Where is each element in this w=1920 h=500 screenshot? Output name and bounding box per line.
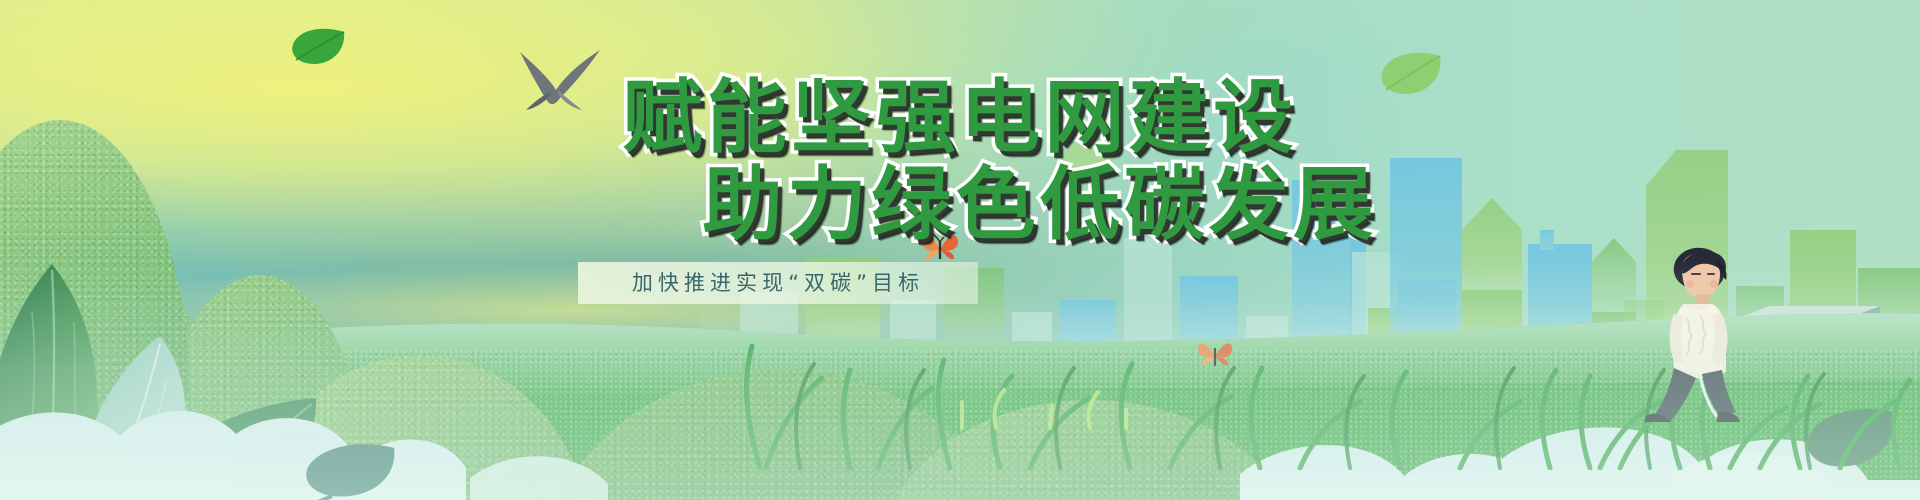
flying-leaf-mid-icon: [1060, 138, 1120, 182]
eco-power-grid-banner: 赋能坚强电网建设 助力绿色低碳发展 加快推进实现“双碳”目标: [0, 0, 1920, 500]
walking-person: [1640, 242, 1770, 422]
subtitle-text: 加快推进实现“双碳”目标: [578, 262, 978, 304]
swallow-bird-icon: [506, 48, 606, 112]
butterfly-center-icon: [920, 228, 960, 266]
grass-sprouts: [940, 362, 1140, 432]
cloud-leaf-left: [276, 442, 406, 500]
flying-leaf-top-left-icon: [288, 26, 348, 70]
flying-leaf-top-right-icon: [1376, 52, 1444, 98]
butterfly-right-icon: [1196, 336, 1234, 372]
